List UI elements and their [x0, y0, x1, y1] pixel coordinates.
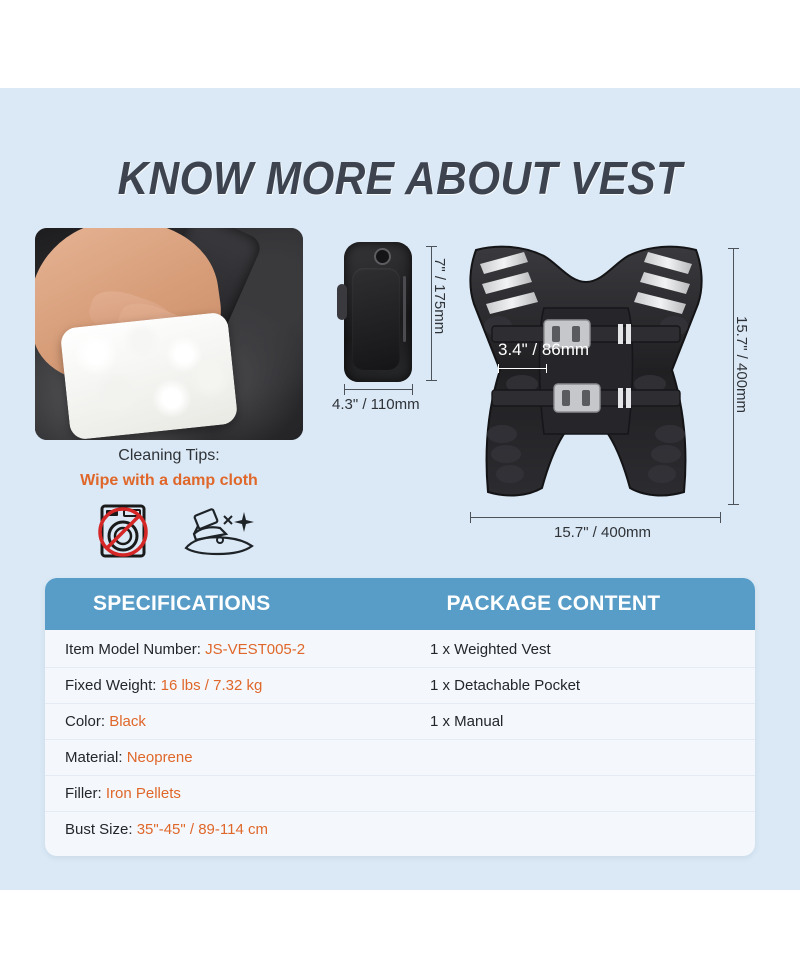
spec-value: JS-VEST005-2: [205, 641, 305, 658]
pocket-width-cap-right: [412, 384, 413, 395]
strap-width-cap-left: [498, 364, 499, 373]
strap-width-line: [498, 368, 546, 369]
no-washing-machine-icon: [88, 502, 158, 560]
pocket-height-label: 7" / 175mm: [431, 258, 448, 334]
vest-width-cap-left: [470, 512, 471, 523]
spec-cell: Material: Neoprene: [45, 749, 390, 766]
pocket-side-tab: [337, 284, 347, 320]
table-row: Bust Size: 35"-45" / 89-114 cm: [45, 812, 755, 847]
weighted-vest-image: [458, 238, 714, 504]
pocket-zipper: [403, 276, 406, 342]
spec-label: Fixed Weight:: [65, 677, 156, 694]
vest-height-label: 15.7" / 400mm: [733, 316, 750, 413]
photo-towel: [60, 312, 239, 440]
pocket-height-cap-bottom: [426, 380, 437, 381]
spec-value: 35"-45" / 89-114 cm: [137, 821, 268, 838]
specifications-table-card: SPECIFICATIONS PACKAGE CONTENT Item Mode…: [45, 578, 755, 856]
page-title: KNOW MORE ABOUT VEST: [32, 150, 768, 206]
header-specifications: SPECIFICATIONS: [45, 578, 402, 630]
pocket-width-label: 4.3" / 110mm: [332, 396, 420, 413]
table-row: Material: Neoprene: [45, 740, 755, 776]
spec-cell: Filler: Iron Pellets: [45, 785, 390, 802]
vest-width-cap-right: [720, 512, 721, 523]
vest-width-line: [470, 517, 720, 518]
strap-width-label: 3.4" / 86mm: [498, 340, 589, 360]
vest-height-cap-top: [728, 248, 739, 249]
pocket-width-cap-left: [344, 384, 345, 395]
package-cell: 1 x Manual: [390, 713, 755, 730]
table-row: Filler: Iron Pellets: [45, 776, 755, 812]
cleaning-photo: [35, 228, 303, 440]
vest-height-cap-bottom: [728, 504, 739, 505]
spec-label: Filler:: [65, 785, 102, 802]
table-header-row: SPECIFICATIONS PACKAGE CONTENT: [45, 578, 755, 630]
spec-value: Neoprene: [127, 749, 193, 766]
table-body: Item Model Number: JS-VEST005-2 1 x Weig…: [45, 630, 755, 847]
vest-width-label: 15.7" / 400mm: [554, 524, 651, 541]
spec-value: Black: [109, 713, 146, 730]
pocket-width-line: [344, 389, 412, 390]
cleaning-tips-text: Wipe with a damp cloth: [35, 472, 303, 490]
table-row: Fixed Weight: 16 lbs / 7.32 kg 1 x Detac…: [45, 668, 755, 704]
spec-cell: Item Model Number: JS-VEST005-2: [45, 641, 390, 658]
spec-label: Bust Size:: [65, 821, 133, 838]
strap-width-cap-right: [546, 364, 547, 373]
spec-cell: Bust Size: 35"-45" / 89-114 cm: [45, 821, 390, 838]
pocket-front-panel: [352, 268, 400, 370]
spec-value: 16 lbs / 7.32 kg: [161, 677, 263, 694]
hand-wipe-cloth-icon: [180, 504, 260, 558]
pocket-height-cap-top: [426, 246, 437, 247]
spec-cell: Fixed Weight: 16 lbs / 7.32 kg: [45, 677, 390, 694]
package-cell: 1 x Weighted Vest: [390, 641, 755, 658]
spec-value: Iron Pellets: [106, 785, 181, 802]
header-package-content: PACKAGE CONTENT: [402, 578, 756, 630]
pocket-grommet: [374, 248, 391, 265]
cleaning-tips-label: Cleaning Tips:: [35, 447, 303, 465]
table-row: Color: Black 1 x Manual: [45, 704, 755, 740]
table-row: Item Model Number: JS-VEST005-2 1 x Weig…: [45, 632, 755, 668]
spec-label: Color:: [65, 713, 105, 730]
spec-label: Item Model Number:: [65, 641, 201, 658]
detachable-pocket-image: [344, 242, 412, 382]
spec-label: Material:: [65, 749, 123, 766]
spec-cell: Color: Black: [45, 713, 390, 730]
infographic-page: KNOW MORE ABOUT VEST Cleaning Tips: Wipe…: [0, 0, 800, 977]
package-cell: 1 x Detachable Pocket: [390, 677, 755, 694]
